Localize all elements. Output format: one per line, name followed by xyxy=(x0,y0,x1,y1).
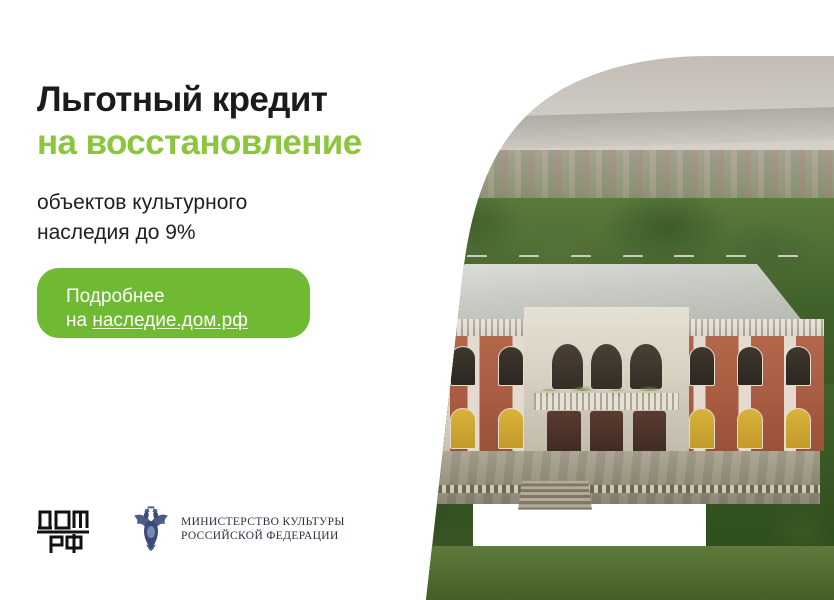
window xyxy=(785,346,811,387)
entrance-door xyxy=(633,411,666,456)
window xyxy=(498,346,524,387)
chimney xyxy=(519,255,539,291)
window xyxy=(737,346,763,387)
chimney xyxy=(726,255,746,291)
ministry-name: МИНИСТЕРСТВО КУЛЬТУРЫ РОССИЙСКОЙ ФЕДЕРАЦ… xyxy=(181,515,345,543)
dom-rf-logo xyxy=(35,503,91,555)
window xyxy=(402,346,428,387)
chimney-row xyxy=(415,257,798,291)
entrance-door xyxy=(590,411,623,456)
cta-prefix: на xyxy=(66,310,92,331)
ministry-of-culture-logo: МИНИСТЕРСТВО КУЛЬТУРЫ РОССИЙСКОЙ ФЕДЕРАЦ… xyxy=(131,506,345,552)
double-headed-eagle-icon xyxy=(131,506,171,552)
logo-row: МИНИСТЕРСТВО КУЛЬТУРЫ РОССИЙСКОЙ ФЕДЕРАЦ… xyxy=(35,503,345,555)
balcony-balustrade xyxy=(534,391,679,411)
headline-line-2: на восстановление xyxy=(37,123,362,162)
promo-banner: Льготный кредитна восстановление объекто… xyxy=(0,0,834,600)
window xyxy=(689,346,715,387)
cta-line-1: Подробнее xyxy=(66,285,310,309)
page-title: Льготный кредитна восстановление xyxy=(37,78,367,164)
terrace-edge xyxy=(398,485,820,493)
boarded-window xyxy=(737,408,763,449)
ministry-line-2: РОССИЙСКОЙ ФЕДЕРАЦИИ xyxy=(181,530,339,542)
learn-more-button[interactable]: Подробнее на наследие.дом.рф xyxy=(37,268,310,338)
entrance-door xyxy=(547,411,580,456)
stone-terrace xyxy=(398,451,820,504)
arched-window xyxy=(551,343,584,390)
boarded-arch-window xyxy=(408,399,434,444)
mansion-building xyxy=(389,264,824,504)
ministry-line-1: МИНИСТЕРСТВО КУЛЬТУРЫ xyxy=(181,516,345,528)
mansion-photo-panel xyxy=(340,0,834,600)
boarded-window xyxy=(498,408,524,449)
boarded-window xyxy=(785,408,811,449)
subtitle: объектов культурного наследия до 9% xyxy=(37,188,337,248)
logo-divider xyxy=(37,531,89,534)
chimney xyxy=(778,255,798,291)
central-portico xyxy=(524,307,689,456)
entrance-door-row xyxy=(547,411,666,456)
boarded-window xyxy=(450,408,476,449)
left-wing-pavilion xyxy=(394,382,451,456)
chimney xyxy=(623,255,643,291)
boarded-window xyxy=(689,408,715,449)
window xyxy=(450,346,476,387)
portico-arch-row xyxy=(551,343,663,388)
mansion-photo xyxy=(340,0,834,600)
arched-window xyxy=(590,343,623,390)
chimney xyxy=(674,255,694,291)
cta-link[interactable]: наследие.дом.рф xyxy=(92,310,248,331)
lawn xyxy=(340,546,834,600)
cta-line-2: на наследие.дом.рф xyxy=(66,309,310,333)
chimney xyxy=(467,255,487,291)
terrace-stairs xyxy=(518,481,591,510)
headline-line-1: Льготный кредит xyxy=(37,80,327,119)
boarded-window xyxy=(402,408,428,449)
chimney xyxy=(571,255,591,291)
arched-window xyxy=(629,343,662,390)
chimney xyxy=(415,255,435,291)
content-column: Льготный кредитна восстановление объекто… xyxy=(0,0,360,600)
